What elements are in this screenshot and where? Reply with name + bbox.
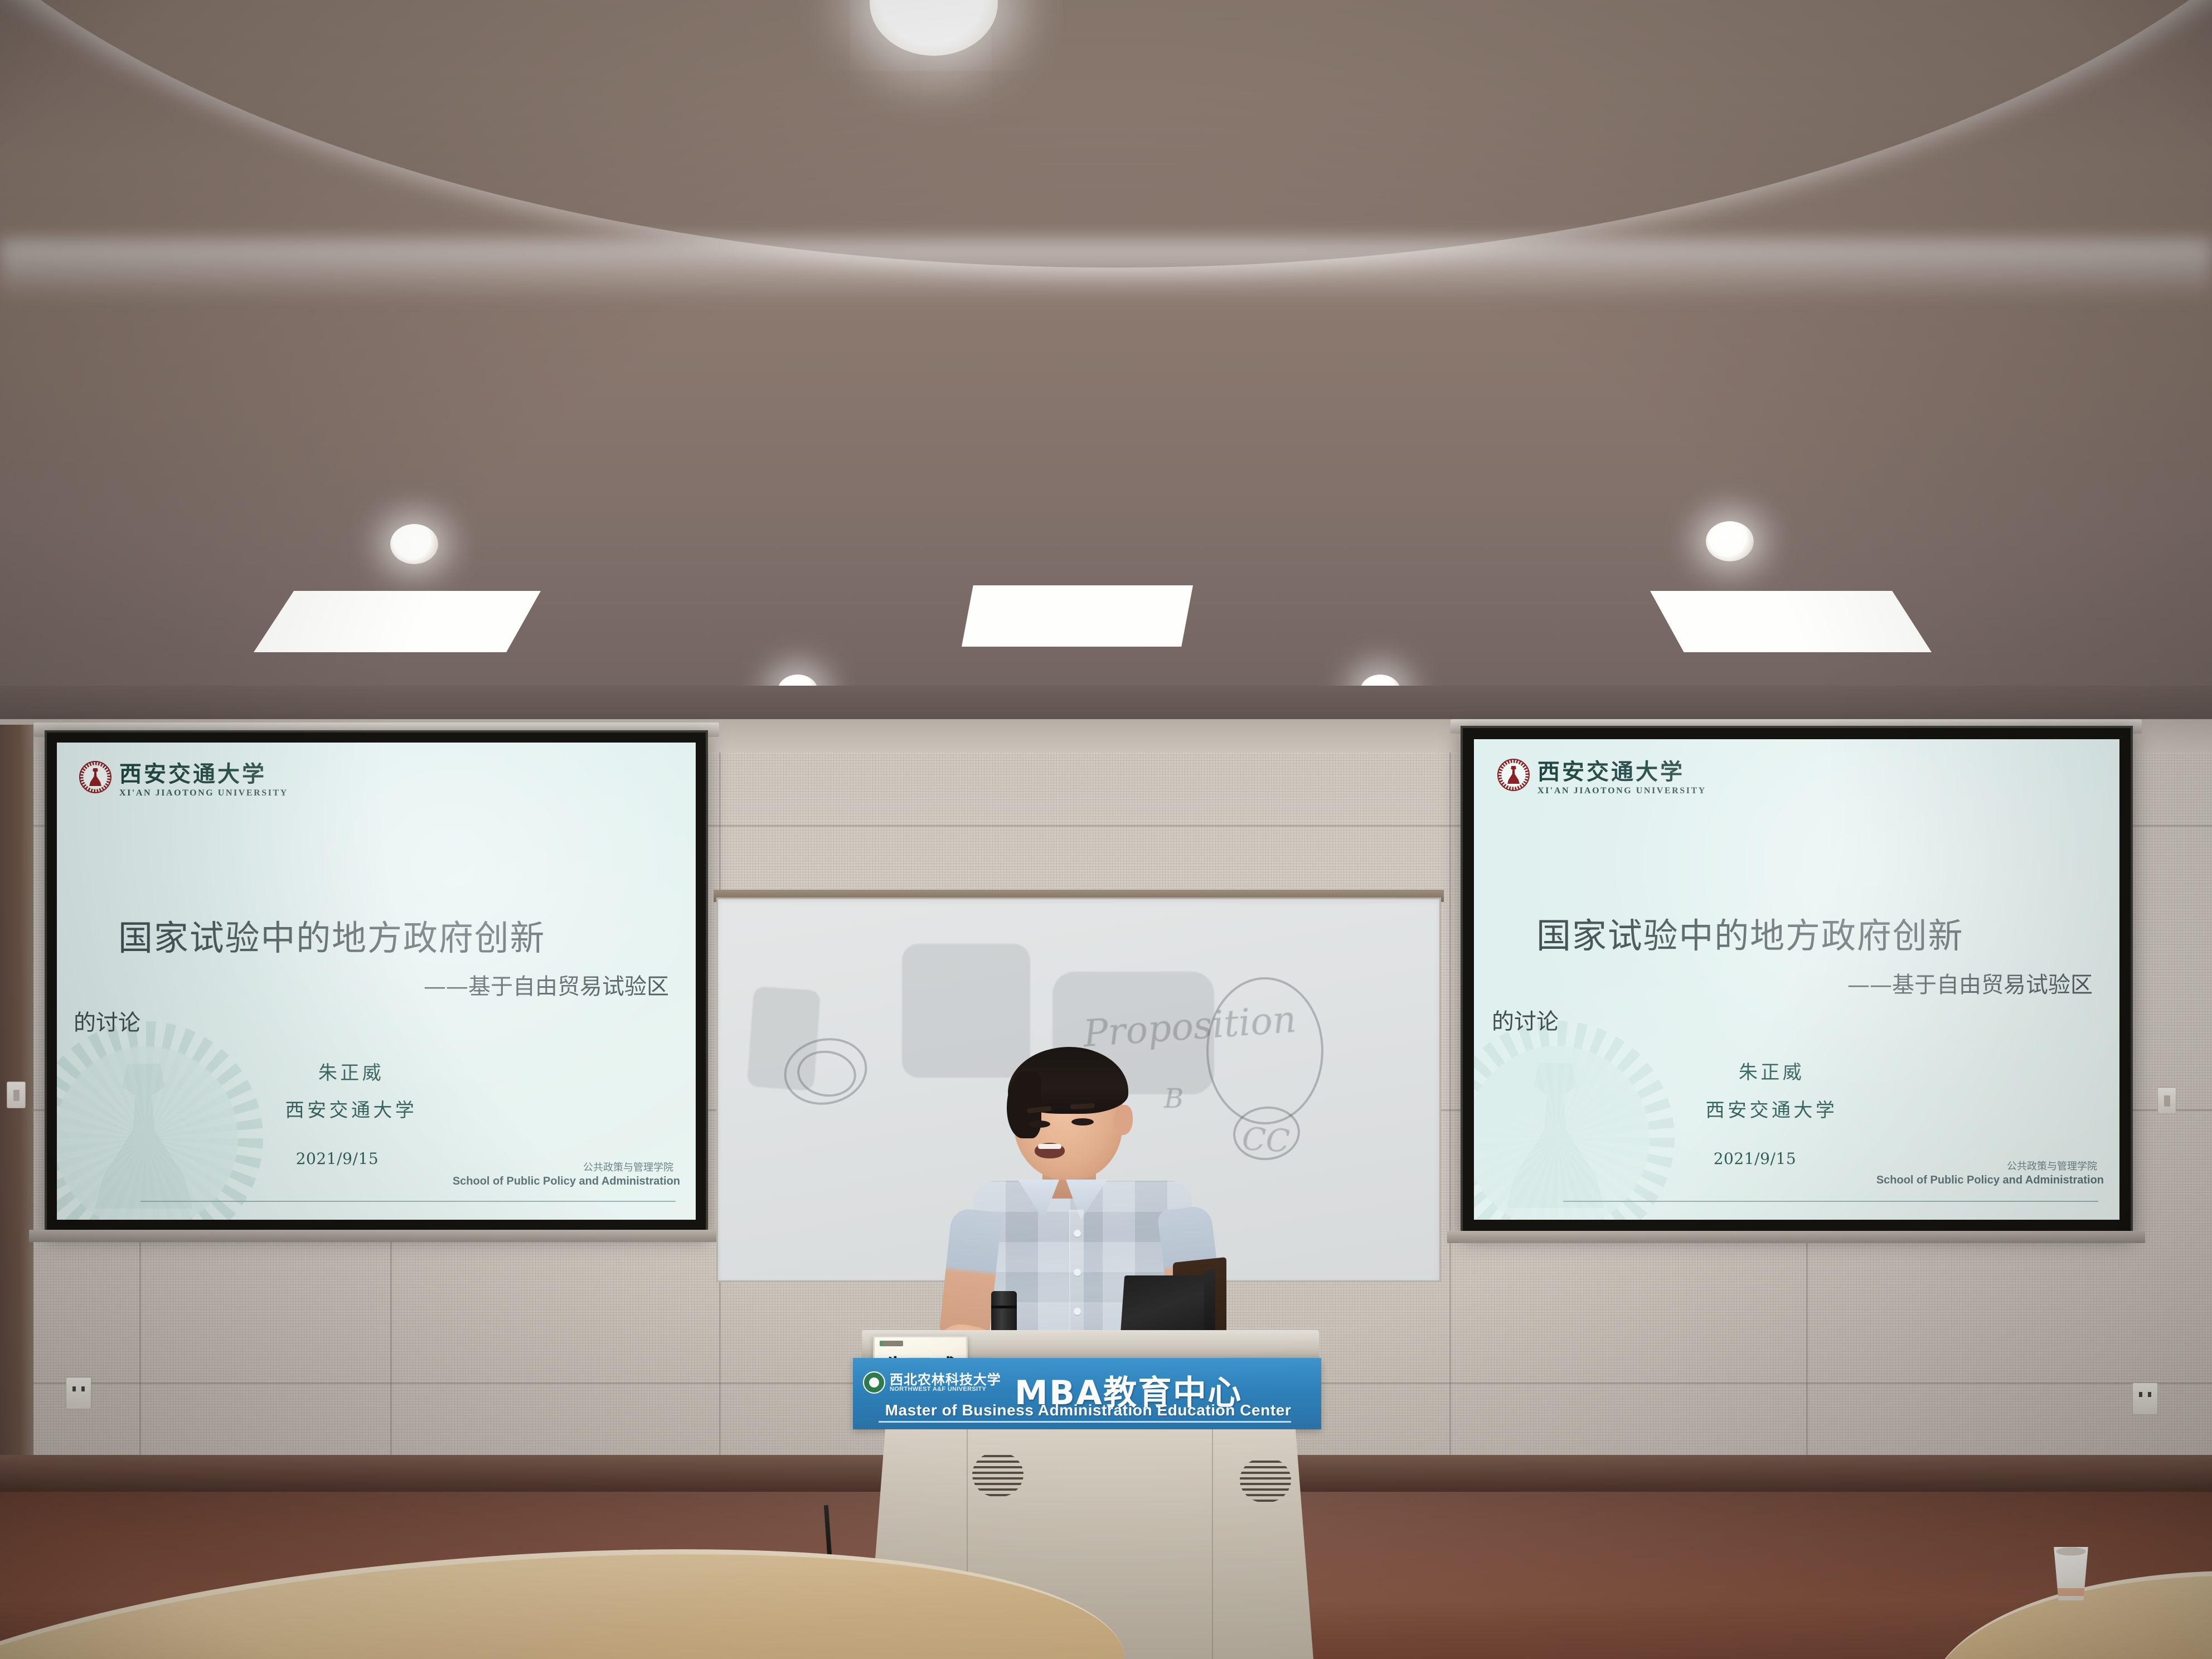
presenter-hair-side xyxy=(1007,1071,1041,1138)
xjtu-logo-text: 西安交通大学 XI'AN JIAOTONG UNIVERSITY xyxy=(119,756,288,798)
podium-sign-underline xyxy=(879,1421,1291,1423)
wall-seam xyxy=(1449,719,1451,1516)
right-slide: 西安交通大学 XI'AN JIAOTONG UNIVERSITY 国家试验中的地… xyxy=(1474,739,2119,1220)
slide-subtitle-continued: 的讨论 xyxy=(1492,1003,1559,1036)
shirt-button xyxy=(1074,1269,1081,1276)
xjtu-gear-seal-icon xyxy=(79,761,111,793)
name-card-logo-icon xyxy=(880,1341,903,1346)
slide-footer-rule xyxy=(140,1201,676,1202)
slide-footer-en: School of Public Policy and Administrati… xyxy=(453,1175,680,1188)
podium-speaker-vent xyxy=(1240,1457,1291,1503)
presenter-mouth xyxy=(1035,1143,1065,1158)
lecture-hall-scene: 西安交通大学 XI'AN JIAOTONG UNIVERSITY 国家试验中的地… xyxy=(0,0,2212,1659)
xjtu-logo-text: 西安交通大学 XI'AN JIAOTONG UNIVERSITY xyxy=(1537,754,1706,796)
xjtu-name-en: XI'AN JIAOTONG UNIVERSITY xyxy=(1537,786,1706,796)
nwafu-name-en: NORTHWEST A&F UNIVERSITY xyxy=(890,1386,1001,1393)
slide-footer-cn: 公共政策与管理学院 xyxy=(583,1160,673,1174)
slide-footer-rule xyxy=(1563,1201,2098,1202)
xjtu-gear-seal-icon xyxy=(1497,759,1530,791)
podium-sign: 西北农林科技大学 NORTHWEST A&F UNIVERSITY MBA教育中… xyxy=(853,1358,1321,1429)
slide-date: 2021/9/15 xyxy=(57,1149,618,1168)
square-panel-light xyxy=(1650,591,1932,652)
xjtu-name-cn: 西安交通大学 xyxy=(1537,754,1706,786)
left-screen-bottom-bar xyxy=(29,1230,724,1242)
nwafu-seal-icon xyxy=(863,1371,885,1394)
round-spot-light xyxy=(1706,521,1754,561)
square-panel-light xyxy=(254,591,541,652)
right-projection-screen: 西安交通大学 XI'AN JIAOTONG UNIVERSITY 国家试验中的地… xyxy=(1461,726,2133,1233)
xjtu-name-cn: 西安交通大学 xyxy=(119,756,288,788)
nwafu-name-cn: 西北农林科技大学 xyxy=(890,1372,1001,1386)
slide-author: 朱正威 xyxy=(1474,1057,2069,1084)
wall-outlet[interactable] xyxy=(66,1377,91,1409)
slide-subtitle: ——基于自由贸易试验区 xyxy=(424,968,669,1001)
slide-author: 朱正威 xyxy=(57,1058,646,1085)
slide-title: 国家试验中的地方政府创新 xyxy=(1536,908,1963,958)
slide-title: 国家试验中的地方政府创新 xyxy=(118,910,545,960)
xjtu-logo: 西安交通大学 XI'AN JIAOTONG UNIVERSITY xyxy=(79,756,288,798)
slide-subtitle: ——基于自由贸易试验区 xyxy=(1847,967,2093,999)
nwafu-logo: 西北农林科技大学 NORTHWEST A&F UNIVERSITY xyxy=(863,1371,1001,1394)
left-wall-column xyxy=(0,725,33,1516)
slide-footer-en: School of Public Policy and Administrati… xyxy=(1876,1174,2104,1187)
slide-affiliation: 西安交通大学 xyxy=(57,1095,646,1122)
podium-seam xyxy=(1212,1429,1213,1659)
presenter-ear xyxy=(1114,1105,1133,1135)
slide-subtitle-continued: 的讨论 xyxy=(74,1005,140,1037)
shirt-button xyxy=(1074,1230,1081,1237)
whiteboard-smudge xyxy=(747,986,821,1091)
nwafu-logo-text: 西北农林科技大学 NORTHWEST A&F UNIVERSITY xyxy=(890,1372,1001,1393)
xjtu-name-en: XI'AN JIAOTONG UNIVERSITY xyxy=(119,788,288,798)
square-panel-light xyxy=(962,585,1193,647)
xjtu-logo: 西安交通大学 XI'AN JIAOTONG UNIVERSITY xyxy=(1497,754,1706,796)
wall-switch[interactable] xyxy=(7,1081,26,1108)
ceiling-inner-dome xyxy=(0,0,2212,268)
right-screen-bottom-bar xyxy=(1447,1231,2145,1243)
shirt-button xyxy=(1074,1308,1081,1315)
round-spot-light xyxy=(390,524,438,564)
slide-footer-cn: 公共政策与管理学院 xyxy=(2007,1158,2097,1173)
left-projection-screen: 西安交通大学 XI'AN JIAOTONG UNIVERSITY 国家试验中的地… xyxy=(45,730,708,1232)
podium-sign-title-en: Master of Business Administration Educat… xyxy=(876,1401,1300,1419)
podium-speaker-vent xyxy=(972,1452,1023,1497)
presenter-eye xyxy=(1071,1118,1094,1126)
presenter-eye xyxy=(1028,1120,1050,1128)
wall-outlet[interactable] xyxy=(2132,1382,2158,1415)
light-cove-glow xyxy=(0,240,2212,301)
wall-switch[interactable] xyxy=(2157,1087,2176,1114)
slide-date: 2021/9/15 xyxy=(1474,1149,2036,1168)
slide-affiliation: 西安交通大学 xyxy=(1474,1095,2069,1122)
left-slide: 西安交通大学 XI'AN JIAOTONG UNIVERSITY 国家试验中的地… xyxy=(57,743,696,1220)
